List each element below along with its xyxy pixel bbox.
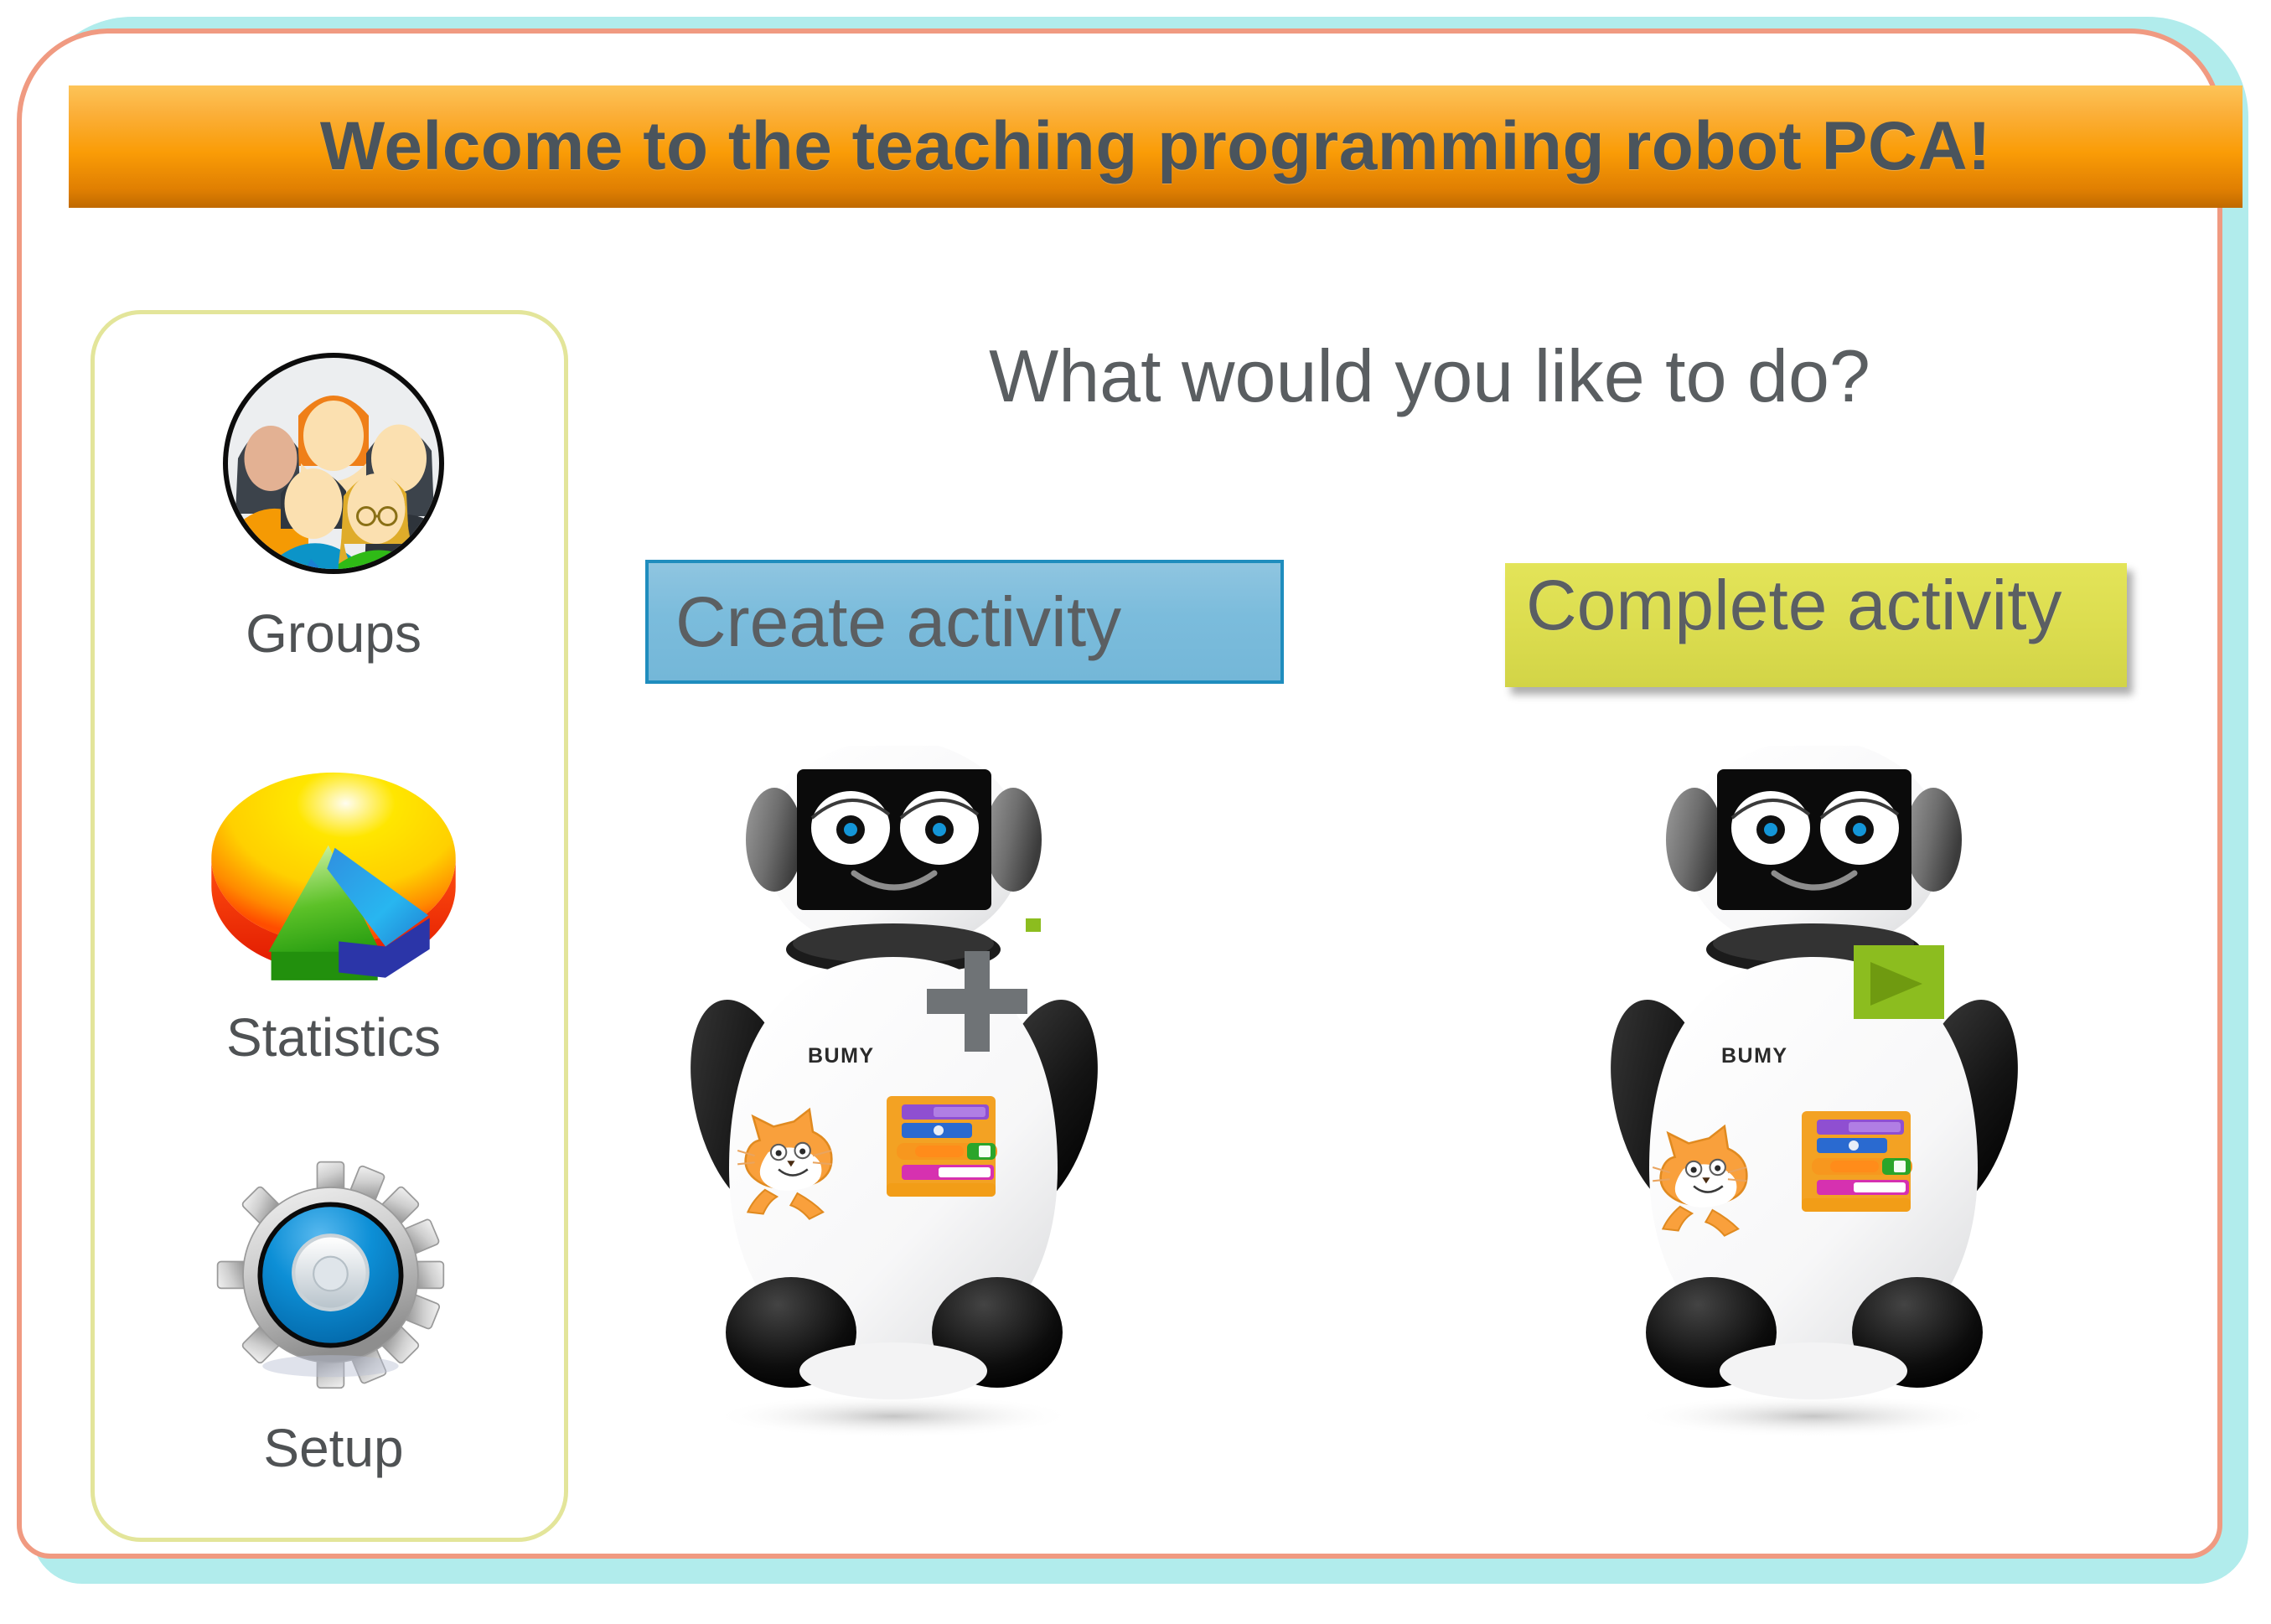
- scratch-blocks-icon: [1802, 1111, 1912, 1212]
- robot-chest-label: BUMY: [1721, 1044, 1788, 1068]
- sidebar-item-label-setup: Setup: [263, 1417, 403, 1479]
- sidebar-item-statistics[interactable]: Statistics: [95, 742, 572, 1068]
- create-activity-label: Create activity: [675, 582, 1121, 663]
- pie-chart-icon: [204, 742, 463, 993]
- app-header-banner: Welcome to the teaching programming robo…: [69, 85, 2243, 208]
- sidebar-item-label-statistics: Statistics: [226, 1006, 441, 1068]
- sidebar: Groups: [91, 310, 568, 1542]
- people-group-icon: [204, 338, 463, 589]
- gear-icon: [204, 1152, 463, 1404]
- robot-create-activity[interactable]: BUMY: [642, 746, 1145, 1441]
- play-icon: [1854, 945, 1944, 1019]
- robot-chest-label: BUMY: [808, 1044, 875, 1068]
- main-question: What would you like to do?: [642, 334, 2217, 419]
- create-activity-button[interactable]: Create activity: [645, 560, 1284, 684]
- sidebar-item-groups[interactable]: Groups: [95, 338, 572, 665]
- complete-activity-button[interactable]: [1505, 563, 2127, 687]
- app-card: Welcome to the teaching programming robo…: [17, 28, 2222, 1559]
- sidebar-item-label-groups: Groups: [246, 603, 422, 665]
- scratch-blocks-icon: [887, 1096, 997, 1197]
- robot-complete-activity[interactable]: BUMY: [1562, 746, 2065, 1441]
- page-title: Welcome to the teaching programming robo…: [320, 107, 1991, 186]
- sidebar-item-setup[interactable]: Setup: [95, 1152, 572, 1479]
